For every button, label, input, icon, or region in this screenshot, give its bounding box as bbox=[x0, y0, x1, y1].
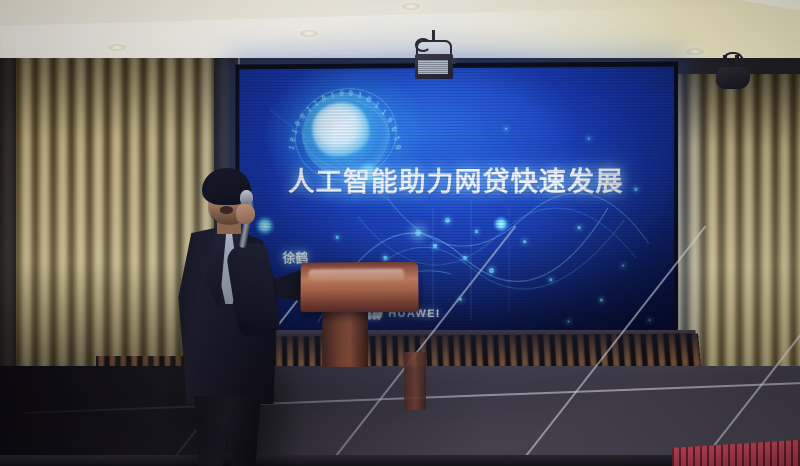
light-lens-grille bbox=[418, 60, 448, 74]
presentation-photo: 1 0 1 0 0 1 1 0 1 0 0 1 0 1 1 0 0 bbox=[0, 0, 800, 466]
ceiling-mounted-speaker bbox=[714, 55, 752, 91]
presenter bbox=[170, 168, 288, 466]
podium-gloss-highlight bbox=[309, 269, 405, 282]
downlight-icon bbox=[108, 44, 126, 51]
wooden-podium bbox=[300, 262, 418, 312]
podium-body bbox=[322, 305, 368, 367]
downlight-icon bbox=[402, 3, 420, 10]
downlight-icon bbox=[300, 30, 318, 37]
downlight-icon bbox=[686, 48, 704, 55]
light-cable-icon bbox=[415, 38, 431, 52]
stage-light-fixture bbox=[412, 36, 456, 82]
presenter-hand bbox=[236, 204, 255, 224]
microphone-icon bbox=[240, 190, 253, 205]
presenter-mouth bbox=[220, 206, 233, 214]
